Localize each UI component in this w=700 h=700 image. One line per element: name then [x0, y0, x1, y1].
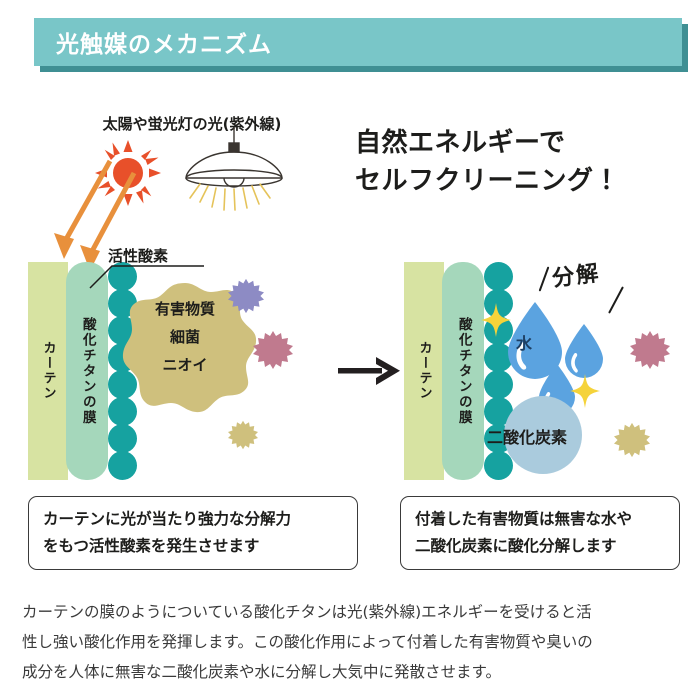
- footer-line-3: 成分を人体に無害な二酸化炭素や水に分解し大気中に発散させます。: [22, 658, 684, 688]
- germ-icon-rose-right: [630, 330, 670, 370]
- curtain-bar-right: カーテン: [404, 262, 444, 480]
- water-label: 水: [516, 330, 532, 354]
- germ-icon-purple: [228, 278, 264, 314]
- oxygen-circle: [484, 451, 513, 480]
- sparkle-icon-2: [570, 374, 600, 408]
- headline-line-2: セルフクリーニング！: [355, 163, 685, 201]
- curtain-label-right: カーテン: [404, 262, 444, 480]
- caption-right-line-1: 付着した有害物質は無害な水や: [415, 506, 632, 533]
- footer-line-2: 性し強い酸化作用を発揮します。この酸化作用によって付着した有害物質や臭いの: [22, 628, 684, 658]
- oxygen-circle: [108, 451, 137, 480]
- title-banner: 光触媒のメカニズム: [34, 18, 682, 66]
- caption-box-left: カーテンに光が当たり強力な分解力 をもつ活性酸素を発生させます: [28, 496, 358, 570]
- pendant-lamp-icon: [178, 128, 290, 214]
- sparkle-icon-1: [481, 303, 511, 337]
- curtain-bar-left: カーテン: [28, 262, 68, 480]
- headline-line-1: 自然エネルギーで: [355, 125, 685, 163]
- caption-left-line-2: をもつ活性酸素を発生させます: [43, 533, 291, 560]
- caption-left-text: カーテンに光が当たり強力な分解力 をもつ活性酸素を発生させます: [29, 506, 305, 560]
- headline: 自然エネルギーで セルフクリーニング！: [355, 125, 685, 200]
- caption-left-line-1: カーテンに光が当たり強力な分解力: [43, 506, 291, 533]
- oxygen-circle: [484, 262, 513, 291]
- titanium-film-left: 酸化チタンの膜: [66, 262, 108, 480]
- caption-right-line-2: 二酸化炭素に酸化分解します: [415, 533, 632, 560]
- decompose-label: 分解: [550, 255, 602, 293]
- footer-paragraph: カーテンの膜のようについている酸化チタンは光(紫外線)エネルギーを受けると活 性…: [22, 598, 684, 687]
- page-title: 光触媒のメカニズム: [56, 25, 272, 59]
- caption-right-text: 付着した有害物質は無害な水や 二酸化炭素に酸化分解します: [401, 506, 646, 560]
- germ-icon-khaki-right: [614, 422, 650, 458]
- germ-icon-rose: [253, 330, 293, 370]
- co2-label: 二酸化炭素: [487, 424, 567, 448]
- germ-icon-khaki-small: [228, 420, 258, 450]
- blob-line-2: 細菌: [110, 324, 260, 352]
- titanium-film-label-right: 酸化チタンの膜: [442, 262, 484, 480]
- infographic-page: 光触媒のメカニズム 太陽や蛍光灯の光(紫外線): [0, 0, 700, 700]
- title-banner-bar: 光触媒のメカニズム: [34, 18, 682, 66]
- caption-box-right: 付着した有害物質は無害な水や 二酸化炭素に酸化分解します: [400, 496, 680, 570]
- titanium-film-label-left: 酸化チタンの膜: [66, 262, 108, 480]
- curtain-label-left: カーテン: [28, 262, 68, 480]
- blob-line-3: ニオイ: [110, 352, 260, 380]
- footer-line-1: カーテンの膜のようについている酸化チタンは光(紫外線)エネルギーを受けると活: [22, 598, 684, 628]
- titanium-film-right: 酸化チタンの膜: [442, 262, 484, 480]
